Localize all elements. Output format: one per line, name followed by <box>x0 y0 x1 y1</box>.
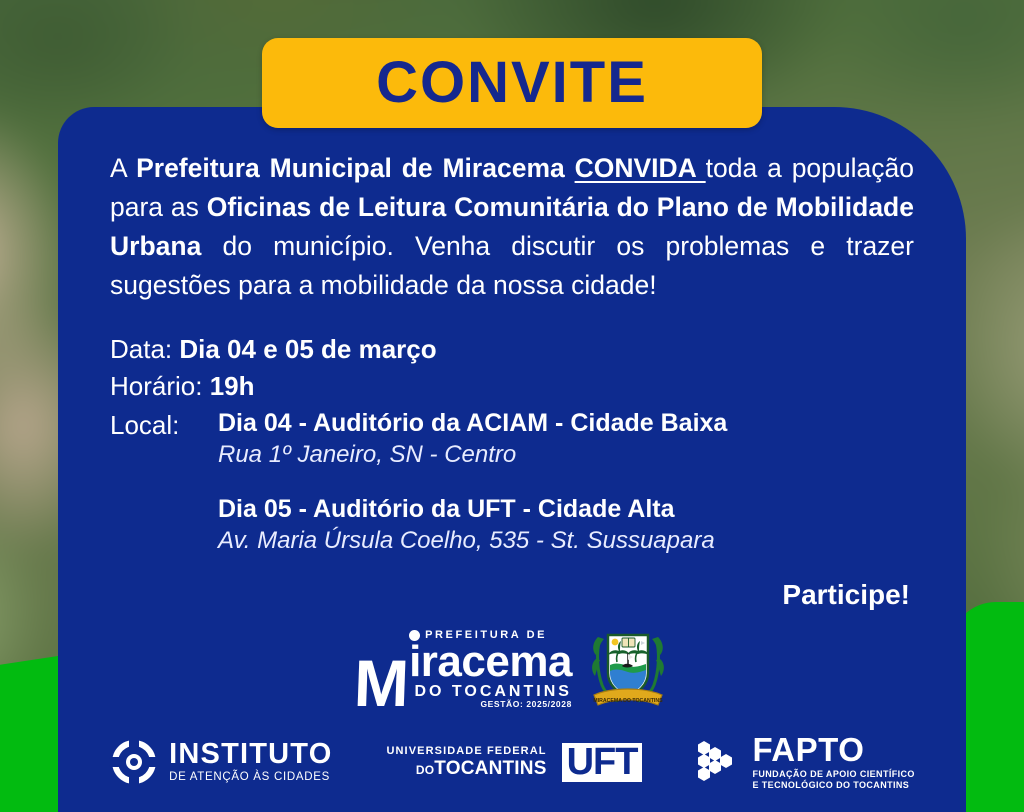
fapto-logo: FAPTO FUNDAÇÃO DE APOIO CIENTÍFICOE TECN… <box>696 733 914 792</box>
fapto-subtitle-line1: FUNDAÇÃO DE APOIO CIENTÍFICO <box>752 769 914 779</box>
date-label: Data: <box>110 331 179 368</box>
miracema-gestao: GESTÃO: 2025/2028 <box>409 700 572 709</box>
uft-line1: UNIVERSIDADE FEDERAL <box>386 746 546 757</box>
venue-item: Dia 05 - Auditório da UFT - Cidade Alta … <box>218 493 966 557</box>
location-label: Local: <box>110 407 218 444</box>
miracema-wordmark: PREFEITURA DE iracema DO TOCANTINS GESTÃ… <box>409 630 572 710</box>
fapto-hexagon-icon <box>696 737 742 787</box>
uft-logo: UNIVERSIDADE FEDERAL DOTOCANTINS UFT <box>386 743 642 782</box>
instituto-name: INSTITUTO <box>169 740 332 769</box>
convite-title: CONVITE <box>376 54 648 112</box>
miracema-name: iracema <box>409 642 572 682</box>
fapto-subtitle: FUNDAÇÃO DE APOIO CIENTÍFICOE TECNOLÓGIC… <box>752 769 914 792</box>
time-row: Horário: 19h <box>110 368 966 405</box>
time-label: Horário: <box>110 368 210 405</box>
intro-paragraph: A Prefeitura Municipal de Miracema CONVI… <box>110 149 914 305</box>
miracema-logo: M PREFEITURA DE iracema DO TOCANTINS GES… <box>354 630 572 710</box>
event-details: Data: Dia 04 e 05 de março Horário: 19h … <box>110 331 966 557</box>
location-row: Local: Dia 04 - Auditório da ACIAM - Cid… <box>110 407 966 557</box>
uft-mark: UFT <box>562 743 643 782</box>
fapto-text: FAPTO FUNDAÇÃO DE APOIO CIENTÍFICOE TECN… <box>752 733 914 792</box>
intro-prefeitura: Prefeitura Municipal de Miracema <box>136 153 575 183</box>
intro-convida: CONVIDA <box>575 153 706 183</box>
green-accent-left <box>0 656 58 812</box>
coat-of-arms-icon: MIRACEMA DO TOCANTINS <box>586 629 670 711</box>
venue-item: Dia 04 - Auditório da ACIAM - Cidade Bai… <box>218 407 966 471</box>
intro-part6: do município. Venha discutir os problema… <box>110 231 914 300</box>
miracema-state: DO TOCANTINS <box>409 683 572 701</box>
panel-content: A Prefeitura Municipal de Miracema CONVI… <box>58 107 966 791</box>
venue-address: Rua 1º Janeiro, SN - Centro <box>218 439 966 471</box>
uft-line2-small: DO <box>416 763 434 777</box>
time-value: 19h <box>210 368 255 405</box>
partner-logo-row: INSTITUTO DE ATENÇÃO ÀS CIDADES UNIVERSI… <box>58 733 966 792</box>
fapto-subtitle-line2: E TECNOLÓGICO DO TOCANTINS <box>752 780 909 790</box>
main-blue-panel: A Prefeitura Municipal de Miracema CONVI… <box>58 107 966 812</box>
uft-line2-big: TOCANTINS <box>434 758 546 779</box>
instituto-gear-icon <box>109 737 159 787</box>
venue-title: Dia 04 - Auditório da ACIAM - Cidade Bai… <box>218 407 966 440</box>
instituto-logo: INSTITUTO DE ATENÇÃO ÀS CIDADES <box>109 737 332 787</box>
miracema-m-letter: M <box>353 656 407 710</box>
invitation-poster: A Prefeitura Municipal de Miracema CONVI… <box>0 0 1024 812</box>
primary-logo-row: M PREFEITURA DE iracema DO TOCANTINS GES… <box>58 629 966 711</box>
call-to-action: Participe! <box>58 579 910 611</box>
instituto-text: INSTITUTO DE ATENÇÃO ÀS CIDADES <box>169 740 332 784</box>
convite-banner: CONVITE <box>262 38 762 128</box>
uft-text: UNIVERSIDADE FEDERAL DOTOCANTINS <box>386 746 551 778</box>
venue-list: Dia 04 - Auditório da ACIAM - Cidade Bai… <box>218 407 966 557</box>
intro-part1: A <box>110 153 136 183</box>
uft-line2: DOTOCANTINS <box>416 759 547 778</box>
date-value: Dia 04 e 05 de março <box>179 331 436 368</box>
instituto-subtitle: DE ATENÇÃO ÀS CIDADES <box>169 772 332 784</box>
date-row: Data: Dia 04 e 05 de março <box>110 331 966 368</box>
fapto-name: FAPTO <box>752 733 914 766</box>
venue-address: Av. Maria Úrsula Coelho, 535 - St. Sussu… <box>218 525 966 557</box>
brasao-ribbon-text: MIRACEMA DO TOCANTINS <box>593 698 663 704</box>
venue-title: Dia 05 - Auditório da UFT - Cidade Alta <box>218 493 966 526</box>
